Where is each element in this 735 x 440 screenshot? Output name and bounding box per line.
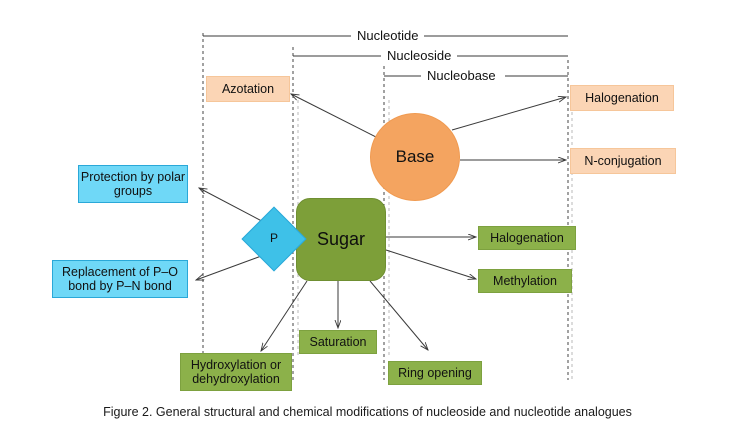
mod-box-replacement[interactable]: Replacement of P–O bond by P–N bond bbox=[52, 260, 188, 298]
mod-box-protection[interactable]: Protection by polar groups bbox=[78, 165, 188, 203]
hub-sugar-label: Sugar bbox=[317, 229, 365, 250]
mod-label-n-conjugation: N-conjugation bbox=[584, 154, 661, 169]
mod-label-halogenation-base: Halogenation bbox=[585, 91, 659, 106]
connector-base-azotation bbox=[291, 94, 382, 140]
mod-box-methylation[interactable]: Methylation bbox=[478, 269, 572, 293]
figure-caption: Figure 2. General structural and chemica… bbox=[0, 405, 735, 419]
hub-base[interactable]: Base bbox=[370, 113, 460, 201]
mod-box-hydroxylation[interactable]: Hydroxylation or dehydroxylation bbox=[180, 353, 292, 391]
hub-sugar[interactable]: Sugar bbox=[296, 198, 386, 281]
mod-label-ring-opening: Ring opening bbox=[398, 366, 472, 381]
mod-box-azotation[interactable]: Azotation bbox=[206, 76, 290, 102]
mod-label-hydroxylation: Hydroxylation or dehydroxylation bbox=[181, 358, 291, 387]
figure-canvas: Nucleotide Nucleoside Nucleobase Base Su… bbox=[0, 0, 735, 440]
bracket-label-nucleoside: Nucleoside bbox=[381, 48, 457, 63]
mod-label-replacement: Replacement of P–O bond by P–N bond bbox=[53, 265, 187, 294]
hub-base-label: Base bbox=[396, 147, 435, 167]
mod-box-n-conjugation[interactable]: N-conjugation bbox=[570, 148, 676, 174]
mod-label-saturation: Saturation bbox=[310, 335, 367, 350]
mod-label-protection: Protection by polar groups bbox=[79, 170, 187, 199]
bracket-label-nucleotide: Nucleotide bbox=[351, 28, 424, 43]
mod-box-ring-opening[interactable]: Ring opening bbox=[388, 361, 482, 385]
hub-phosphate-label: P bbox=[270, 232, 278, 246]
mod-box-halogenation-sugar[interactable]: Halogenation bbox=[478, 226, 576, 250]
mod-box-halogenation-base[interactable]: Halogenation bbox=[570, 85, 674, 111]
mod-label-azotation: Azotation bbox=[222, 82, 274, 97]
mod-box-saturation[interactable]: Saturation bbox=[299, 330, 377, 354]
mod-label-halogenation-sugar: Halogenation bbox=[490, 231, 564, 246]
connector-base-halogenation bbox=[452, 97, 566, 130]
mod-label-methylation: Methylation bbox=[493, 274, 557, 289]
connector-sugar-ringopening bbox=[370, 281, 428, 350]
bracket-label-nucleobase: Nucleobase bbox=[421, 68, 502, 83]
connector-sugar-methylation bbox=[386, 250, 476, 279]
